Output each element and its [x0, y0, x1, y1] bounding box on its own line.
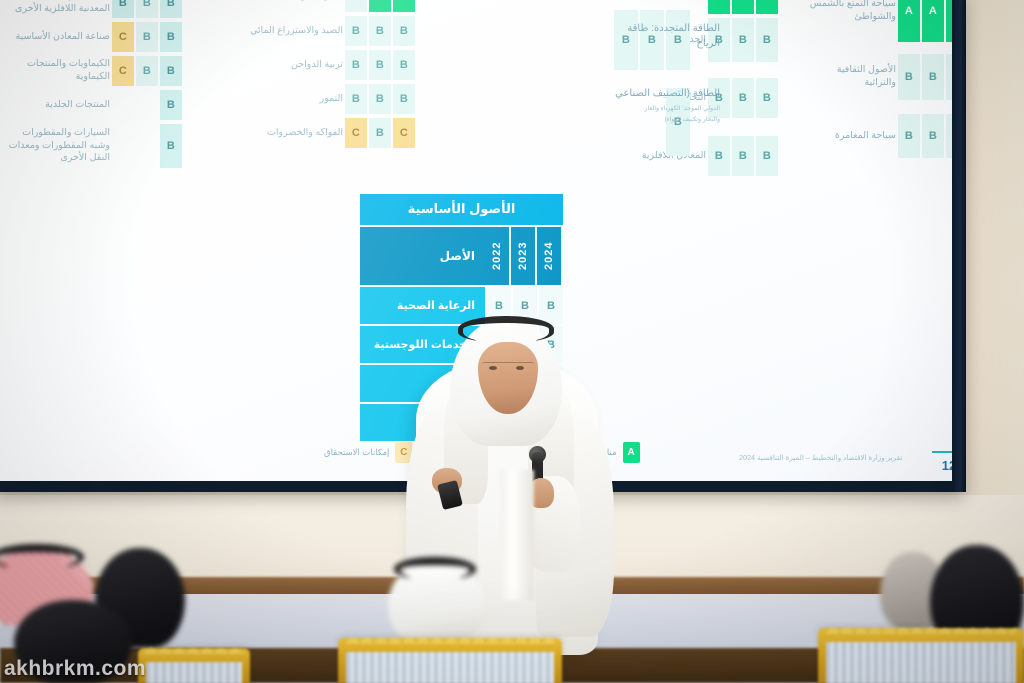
table-row: B B C صناعة المعادن الأساسية — [2, 22, 182, 52]
row-label: الاسمنت والمنتجات المعدنية اللافلزية الأ… — [2, 0, 110, 16]
grade-cell: A — [369, 0, 391, 12]
grade-cells: B B B — [345, 50, 415, 80]
igal-icon — [394, 557, 476, 581]
row-label: تربية الدواجن — [239, 59, 343, 72]
table-row: C B C الفواكه والخضروات — [239, 118, 415, 148]
grade-cell: B — [393, 84, 415, 114]
grade-cell: B — [369, 50, 391, 80]
grade-cell-empty — [136, 124, 158, 154]
year-header-2023: 2023 — [511, 227, 537, 285]
grade-cells: C B C — [345, 118, 415, 148]
presentation-photo-scene: B B B الاسمنت والمنتجات المعدنية اللافلز… — [0, 0, 1024, 683]
grade-cell: A — [732, 0, 754, 14]
speaker-igal — [458, 316, 554, 342]
speaker-eye-right — [516, 366, 524, 370]
grade-cell: B — [160, 56, 182, 86]
grade-cell: C — [345, 118, 367, 148]
grade-cells: A A B — [345, 0, 415, 12]
grade-cell: B — [345, 50, 367, 80]
row-label: المنتجات الجلدية — [2, 99, 110, 112]
cluster-fisheries: A A B غسل النقل B B B الصيد والاستزراع ا… — [239, 0, 415, 152]
grade-cell: A — [922, 0, 944, 42]
grade-cells: A A A — [708, 0, 778, 14]
speaker-eye-left — [489, 366, 497, 370]
photo-watermark: akhbrkm.com — [4, 657, 146, 681]
main-table-title: الأصول الأساسية — [360, 194, 563, 225]
table-row: B B B سياحة المغامرة — [806, 114, 952, 158]
grade-cell: B — [160, 124, 182, 168]
grade-cell: B — [136, 56, 158, 86]
grade-cells: B — [112, 90, 182, 120]
legend-label: إمكانات الاستحقاق — [324, 447, 389, 458]
grade-cells: B B B — [708, 136, 778, 176]
grade-cell: B — [732, 136, 754, 176]
grade-cell: C — [112, 56, 134, 86]
grade-cell: C — [112, 22, 134, 52]
grade-cell: B — [160, 90, 182, 120]
grade-cell: B — [946, 114, 952, 158]
energy-note-line3: والبخار وتكييف الهواء) — [602, 115, 720, 124]
grade-cell: A — [898, 0, 920, 42]
year-header-2022: 2022 — [485, 227, 511, 285]
grade-cells: B B B — [345, 16, 415, 46]
energy-labels: الطاقة المتجددة: طاقة الرياح الطاقة (الت… — [602, 22, 720, 124]
grade-cell-empty — [112, 124, 134, 154]
legend-chip-a: A — [623, 442, 640, 463]
cluster-tourism: A A A سياحة التمتع بالشمس والشواطئ B B B… — [806, 0, 952, 162]
wall-right-section — [956, 0, 1024, 520]
chair-crest — [346, 630, 554, 644]
grade-cell: B — [393, 50, 415, 80]
chair — [818, 628, 1024, 683]
grade-cell: B — [369, 84, 391, 114]
grade-cell: B — [898, 114, 920, 158]
grade-cell: A — [946, 0, 952, 42]
grade-cell: B — [369, 16, 391, 46]
grade-cell: B — [898, 54, 920, 100]
chair-back-panel — [146, 662, 242, 683]
row-label: السيارات والمقطورات وشبه المقطورات ومعدا… — [2, 127, 110, 165]
row-label: سياحة التمتع بالشمس والشواطئ — [806, 0, 896, 24]
grade-cells: B B B — [112, 0, 182, 18]
legend-item-potential: C إمكانات الاستحقاق — [324, 442, 412, 463]
table-row: A A B غسل النقل — [239, 0, 415, 12]
table-row: B المنتجات الجلدية — [2, 90, 182, 120]
table-row: B B B الاسمنت والمنتجات المعدنية اللافلز… — [2, 0, 182, 18]
row-label: غسل النقل — [239, 0, 343, 3]
grade-cell: B — [160, 0, 182, 18]
grade-cell-empty — [136, 90, 158, 120]
wall-curtain — [500, 470, 534, 600]
table-row: A A A سياحة التمتع بالشمس والشواطئ — [806, 0, 952, 42]
row-label: الفواكه والخضروات — [239, 127, 343, 140]
table-row: B B B الصيد والاستزراع المائي — [239, 16, 415, 46]
chair-crest — [826, 620, 1016, 634]
slide-source-note: تقرير وزارة الاقتصاد والتخطيط – الميزة ا… — [739, 453, 902, 462]
chair — [138, 648, 250, 683]
row-label: سياحة المغامرة — [806, 130, 896, 143]
grade-cell: B — [756, 136, 778, 176]
slide-page-number: 12 — [932, 451, 952, 473]
grade-cell: B — [732, 78, 754, 118]
grade-cell: B — [160, 22, 182, 52]
grade-cell-empty — [112, 90, 134, 120]
table-row: B B B التمور — [239, 84, 415, 114]
grade-cell: B — [922, 114, 944, 158]
chair — [338, 638, 562, 683]
grade-cells: B B B — [898, 114, 952, 158]
grade-cell: B — [756, 18, 778, 62]
row-label: الصيد والاستزراع المائي — [239, 25, 343, 38]
grade-cell: A — [393, 0, 415, 12]
main-table-header: 2024 2023 2022 الأصل — [360, 227, 563, 285]
grade-cells: B B B — [898, 54, 952, 100]
table-row: B السيارات والمقطورات وشبه المقطورات ومع… — [2, 124, 182, 168]
grade-cell: B — [345, 0, 367, 12]
grade-cell: B — [732, 18, 754, 62]
cluster-cement: B B B الاسمنت والمنتجات المعدنية اللافلز… — [2, 0, 182, 172]
table-row: B B C الكيماويات والمنتجات الكيماوية — [2, 56, 182, 86]
asset-column-header: الأصل — [360, 227, 485, 285]
energy-note-title: الطاقة (التصنيف الصناعي — [602, 87, 720, 102]
grade-cell: B — [708, 136, 730, 176]
row-label: الكيماويات والمنتجات الكيماوية — [2, 58, 110, 84]
row-label: الأصول الثقافية والتراثية — [806, 64, 896, 90]
chair-back-panel — [346, 652, 554, 683]
row-label: التمور — [239, 93, 343, 106]
grade-cells: B B C — [112, 22, 182, 52]
energy-renewable-label: الطاقة المتجددة: طاقة الرياح — [602, 22, 720, 51]
table-row: B B B الأصول الثقافية والتراثية — [806, 54, 952, 100]
grade-cell: B — [345, 84, 367, 114]
row-label: صناعة المعادن الأساسية — [2, 31, 110, 44]
year-header-2024: 2024 — [537, 227, 563, 285]
grade-cell: B — [946, 54, 952, 100]
grade-cells: A A A — [898, 0, 952, 42]
grade-cell: A — [708, 0, 730, 14]
grade-cells: B — [112, 124, 182, 168]
grade-cell: B — [922, 54, 944, 100]
grade-cell: C — [393, 118, 415, 148]
grade-cell: B — [393, 16, 415, 46]
grade-cell: A — [756, 0, 778, 14]
table-row: B B B تربية الدواجن — [239, 50, 415, 80]
chair-crest — [144, 640, 244, 654]
grade-cell: B — [756, 78, 778, 118]
energy-note-line2: الدولي الموحد: الكهرباء والغاز — [602, 104, 720, 113]
grade-cell: B — [136, 22, 158, 52]
grade-cells: B B B — [345, 84, 415, 114]
grade-cell: B — [136, 0, 158, 18]
grade-cell: B — [369, 118, 391, 148]
grade-cells: B B C — [112, 56, 182, 86]
chair-back-panel — [826, 642, 1016, 683]
grade-cell: B — [345, 16, 367, 46]
grade-cell: B — [112, 0, 134, 18]
